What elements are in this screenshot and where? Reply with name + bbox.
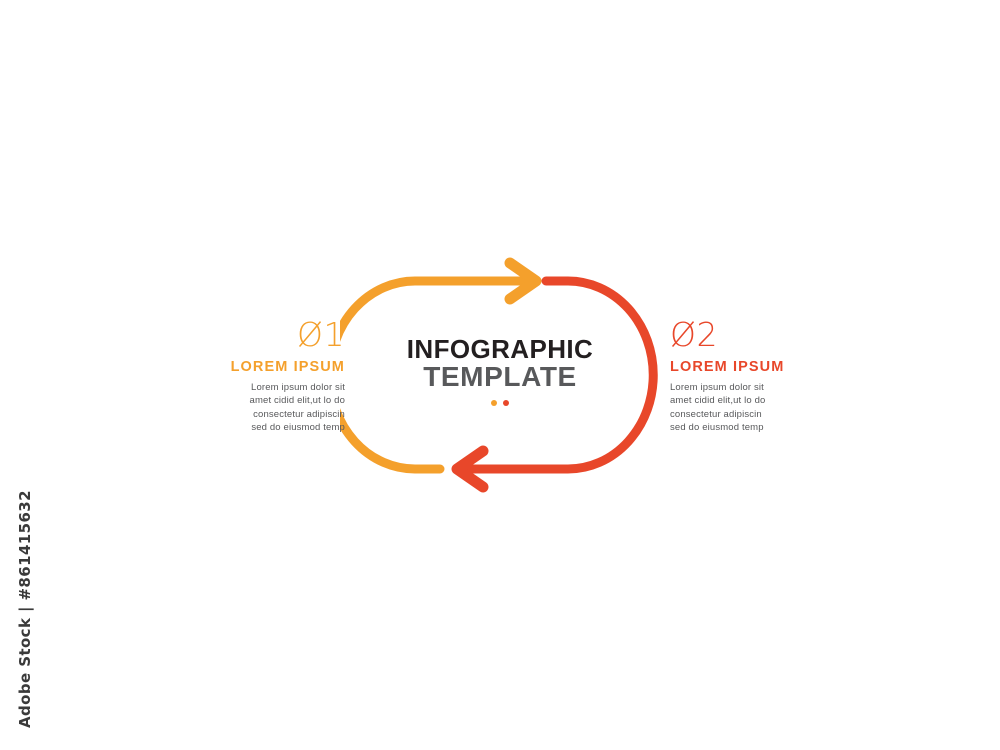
step-body-line: consectetur adipiscin (670, 408, 820, 421)
dot-orange-icon (491, 400, 497, 406)
title-line-infographic: INFOGRAPHIC (395, 336, 605, 362)
step-body-line: Lorem ipsum dolor sit (670, 381, 820, 394)
step-body-line: sed do eiusmod temp (195, 421, 345, 434)
step-body-01: Lorem ipsum dolor sit amet cidid elit,ut… (195, 381, 345, 435)
step-block-02: Ø2 LOREM IPSUM Lorem ipsum dolor sit ame… (670, 318, 820, 435)
step-body-line: amet cidid elit,ut lo do (195, 394, 345, 407)
infographic-canvas: INFOGRAPHIC TEMPLATE Ø1 LOREM IPSUM Lore… (0, 0, 1000, 750)
step-body-line: sed do eiusmod temp (670, 421, 820, 434)
title-dots (395, 400, 605, 406)
dot-red-icon (503, 400, 509, 406)
step-number-02: Ø2 (670, 318, 820, 351)
step-heading-02: LOREM IPSUM (670, 360, 820, 376)
step-body-line: Lorem ipsum dolor sit (195, 381, 345, 394)
step-number-01: Ø1 (195, 318, 345, 351)
stock-watermark: Adobe Stock | #861415632 (16, 489, 34, 729)
step-body-02: Lorem ipsum dolor sit amet cidid elit,ut… (670, 381, 820, 435)
step-heading-01: LOREM IPSUM (195, 360, 345, 376)
step-block-01: Ø1 LOREM IPSUM Lorem ipsum dolor sit ame… (195, 318, 345, 435)
center-title-block: INFOGRAPHIC TEMPLATE (395, 336, 605, 406)
title-line-template: TEMPLATE (395, 363, 605, 391)
step-body-line: amet cidid elit,ut lo do (670, 394, 820, 407)
step-body-line: consectetur adipiscin (195, 408, 345, 421)
